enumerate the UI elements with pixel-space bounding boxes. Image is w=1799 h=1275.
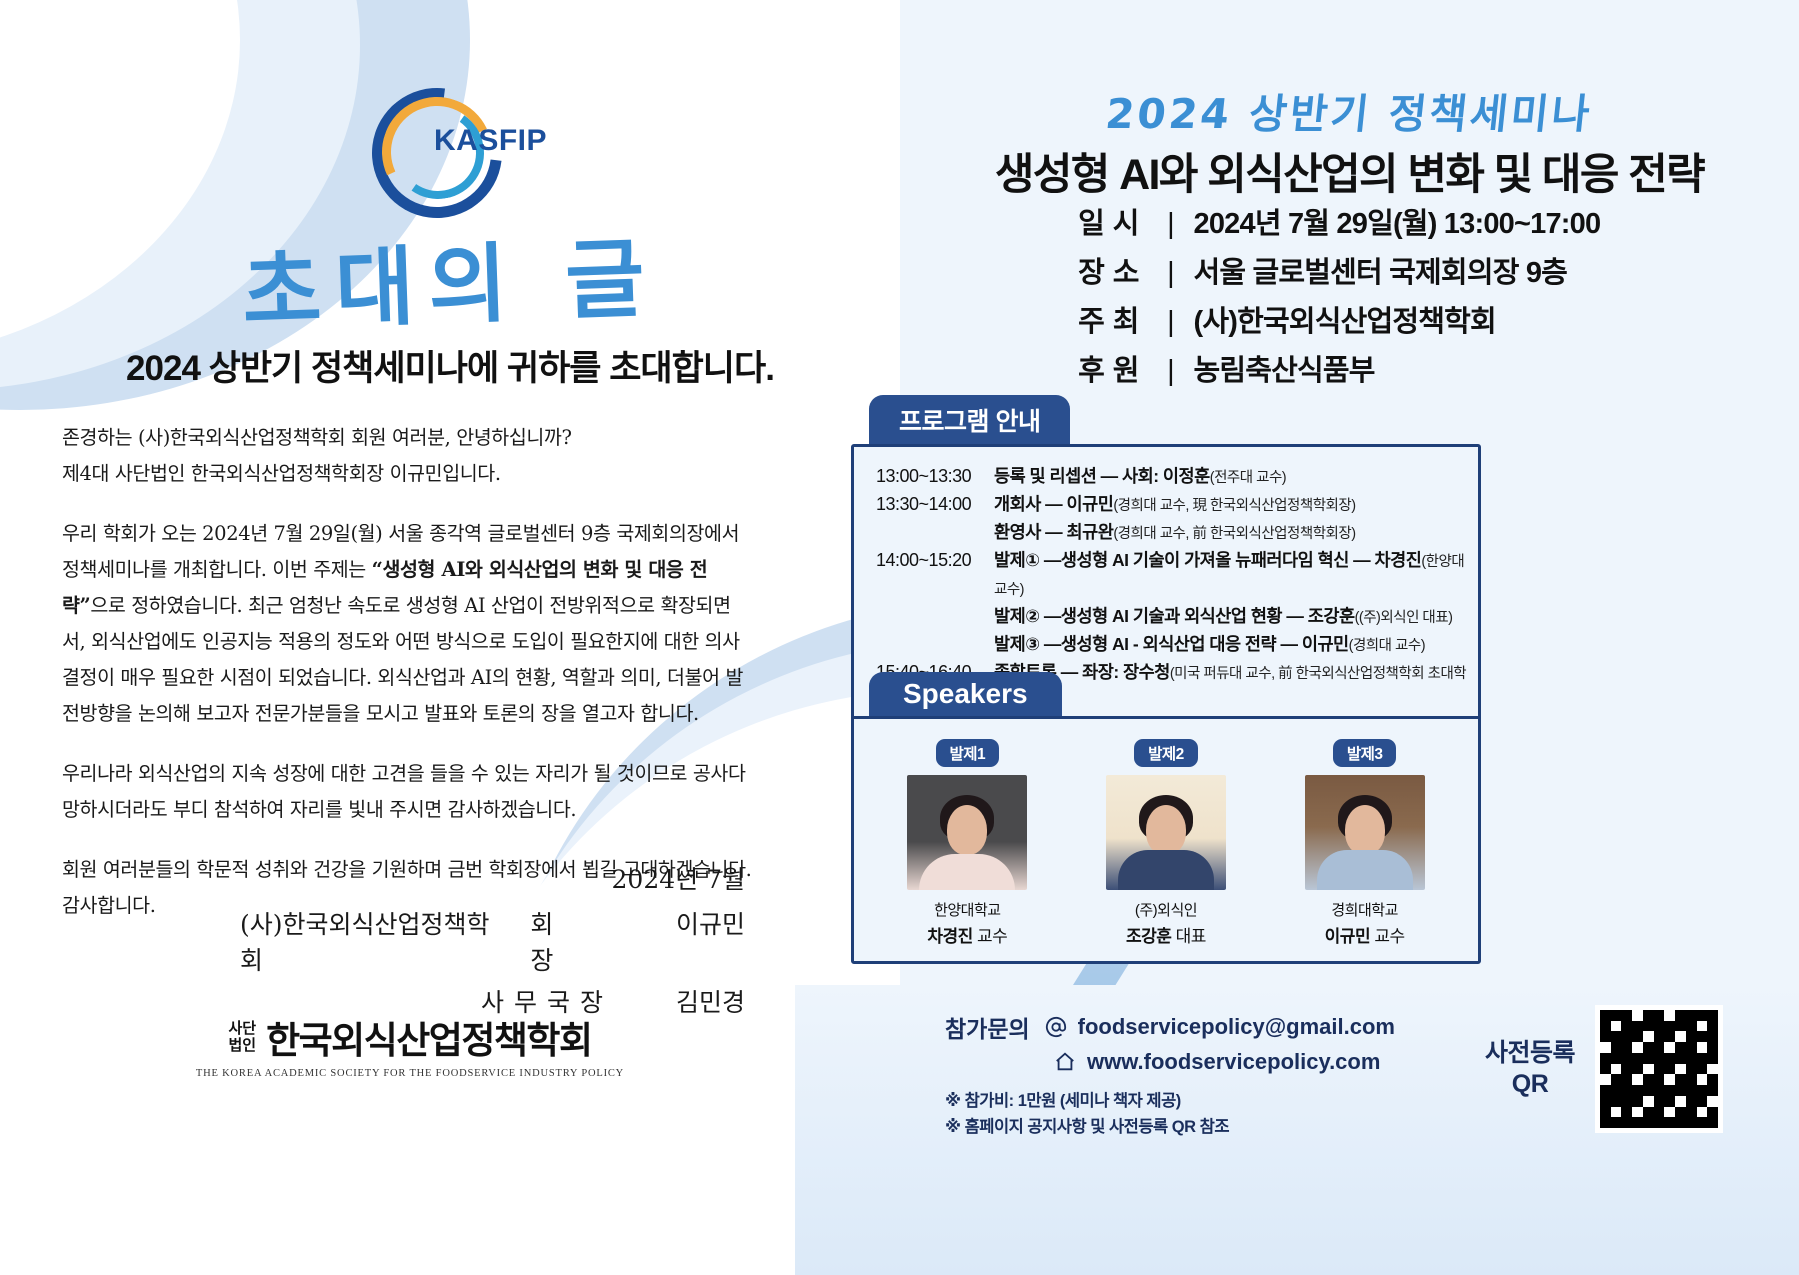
program-note-5: (경희대 교수) xyxy=(1349,638,1425,654)
meta-label-sponsor: 후원 xyxy=(1036,347,1148,389)
preregistration-qr[interactable]: 사전등록 QR xyxy=(1485,1005,1723,1133)
speakers-section: Speakers 발제1 한양대학교 차경진 교수 발제2 xyxy=(851,672,1481,964)
meta-row-date: 일시 | 2024년 7월 29일(월) 13:00~17:00 xyxy=(900,200,1799,242)
seminar-title: 생성형 AI와 외식산업의 변화 및 대응 전략 xyxy=(900,140,1799,202)
speaker-title-1: 교수 xyxy=(977,927,1007,946)
contact-footer: 참가문의 foodservicepolicy@gmail.com www.foo… xyxy=(900,985,1799,1275)
program-bold-1: 개회사 — 이규민 xyxy=(994,494,1113,514)
meta-separator-1: | xyxy=(1148,257,1194,290)
program-text-2: 환영사 — 최규완(경희대 교수, 前 한국외식산업정책학회장) xyxy=(994,519,1478,547)
program-time-3: 14:00~15:20 xyxy=(876,547,994,573)
invitation-paragraph-1: 존경하는 (사)한국외식산업정책학회 회원 여러분, 안녕하십니까?제4대 사단… xyxy=(62,420,752,492)
signature-organization: (사)한국외식산업정책학회 xyxy=(240,905,508,977)
qr-code-icon[interactable] xyxy=(1595,1005,1723,1133)
meta-value-date: 2024년 7월 29일(월) 13:00~17:00 xyxy=(1194,200,1664,242)
meta-value-host: (사)한국외식산업정책학회 xyxy=(1194,298,1664,340)
invitation-headline: 2024 상반기 정책세미나에 귀하를 초대합니다. xyxy=(60,340,840,391)
contact-notes: ※ 참가비: 1만원 (세미나 책자 제공) ※ 홈페이지 공지사항 및 사전등… xyxy=(945,1088,1465,1140)
contact-note-fee: ※ 참가비: 1만원 (세미나 책자 제공) xyxy=(945,1088,1465,1114)
at-sign-icon xyxy=(1044,1015,1068,1039)
speakers-box: 발제1 한양대학교 차경진 교수 발제2 xyxy=(851,716,1481,964)
program-text-1: 개회사 — 이규민(경희대 교수, 現 한국외식산업정책학회장) xyxy=(994,491,1478,519)
signature-name-0: 이규민 xyxy=(635,905,745,941)
speaker-name-1: 차경진 xyxy=(927,927,972,946)
program-text-3: 발제① —생성형 AI 기술이 가져올 뉴패러다임 혁신 — 차경진(한양대 교… xyxy=(994,547,1478,603)
program-row-0: 13:00~13:30 등록 및 리셉션 — 사회: 이정훈(전주대 교수) xyxy=(854,463,1478,491)
meta-separator-2: | xyxy=(1148,306,1194,339)
speaker-card-2: 발제2 (주)외식인 조강훈 대표 xyxy=(1086,739,1246,947)
speaker-title-2: 대표 xyxy=(1176,927,1206,946)
speaker-name-row-2: 조강훈 대표 xyxy=(1086,922,1246,947)
program-bold-4: 발제② —생성형 AI 기술과 외식산업 현황 — 조강훈 xyxy=(994,606,1355,626)
program-text-0: 등록 및 리셉션 — 사회: 이정훈(전주대 교수) xyxy=(994,463,1478,491)
speaker-affiliation-1: 한양대학교 xyxy=(887,899,1047,920)
invitation-paragraph-2: 우리 학회가 오는 2024년 7월 29일(월) 서울 종각역 글로벌센터 9… xyxy=(62,516,752,732)
program-note-4: ((주)외식인 대표) xyxy=(1355,610,1453,626)
signature-block: (사)한국외식산업정책학회 회 장 이규민 사무국장 김민경 xyxy=(240,905,745,1019)
speaker-photo-3 xyxy=(1305,775,1425,890)
contact-email[interactable]: foodservicepolicy@gmail.com xyxy=(1078,1014,1395,1040)
seminar-invitation-poster: KASFIP 초대의 글 2024 상반기 정책세미나에 귀하를 초대합니다. … xyxy=(0,0,1799,1275)
invitation-brush-title: 초대의 글 xyxy=(228,207,672,347)
meta-separator-3: | xyxy=(1148,355,1194,388)
program-bold-5: 발제③ —생성형 AI - 외식산업 대응 전략 — 이규민 xyxy=(994,634,1349,654)
speaker-title-3: 교수 xyxy=(1374,927,1404,946)
speaker-affiliation-2: (주)외식인 xyxy=(1086,899,1246,920)
seminar-kicker: 2024 상반기 정책세미나 xyxy=(897,80,1799,140)
speaker-card-3: 발제3 경희대학교 이규민 교수 xyxy=(1285,739,1445,947)
speakers-tab-label: Speakers xyxy=(869,672,1062,716)
speaker-badge-2: 발제2 xyxy=(1134,739,1198,767)
speaker-badge-3: 발제3 xyxy=(1333,739,1397,767)
footer-logo-prefix-line1: 사단 xyxy=(228,1020,256,1037)
program-row-5: 발제③ —생성형 AI - 외식산업 대응 전략 — 이규민(경희대 교수) xyxy=(854,631,1478,659)
meta-label-date: 일시 xyxy=(1036,200,1148,242)
program-note-0: (전주대 교수) xyxy=(1210,470,1286,486)
footer-logo-english: THE KOREA ACADEMIC SOCIETY FOR THE FOODS… xyxy=(0,1068,820,1079)
footer-logo-prefix: 사단 법인 xyxy=(228,1020,256,1054)
society-footer-logo: 사단 법인 한국외식산업정책학회 THE KOREA ACADEMIC SOCI… xyxy=(0,1010,820,1079)
logo-brand-text: KASFIP xyxy=(434,124,547,158)
speaker-face-1 xyxy=(947,805,987,855)
invitation-paragraph-3: 우리나라 외식산업의 지속 성장에 대한 고견을 들을 수 있는 자리가 될 것… xyxy=(62,756,752,828)
meta-row-host: 주최 | (사)한국외식산업정책학회 xyxy=(900,298,1799,340)
qr-label: 사전등록 QR xyxy=(1485,1038,1575,1100)
program-row-2: 환영사 — 최규완(경희대 교수, 前 한국외식산업정책학회장) xyxy=(854,519,1478,547)
contact-website-row[interactable]: www.foodservicepolicy.com xyxy=(945,1049,1465,1075)
speaker-body-1 xyxy=(919,854,1015,890)
contact-website[interactable]: www.foodservicepolicy.com xyxy=(1087,1049,1380,1075)
kasfip-logo: KASFIP xyxy=(372,88,562,198)
speaker-photo-2 xyxy=(1106,775,1226,890)
speaker-badge-1: 발제1 xyxy=(936,739,1000,767)
contact-note-qr: ※ 홈페이지 공지사항 및 사전등록 QR 참조 xyxy=(945,1114,1465,1140)
invitation-letter-panel: KASFIP 초대의 글 2024 상반기 정책세미나에 귀하를 초대합니다. … xyxy=(0,0,900,1275)
speaker-name-3: 이규민 xyxy=(1325,927,1370,946)
program-time-1: 13:30~14:00 xyxy=(876,491,994,517)
program-tab-label: 프로그램 안내 xyxy=(869,395,1070,444)
program-time-0: 13:00~13:30 xyxy=(876,463,994,489)
meta-row-venue: 장소 | 서울 글로벌센터 국제회의장 9층 xyxy=(900,249,1799,291)
qr-label-line2: QR xyxy=(1485,1069,1575,1100)
signature-date: 2024년 7월 xyxy=(0,860,745,896)
meta-row-sponsor: 후원 | 농림축산식품부 xyxy=(900,347,1799,389)
signature-row-1: (사)한국외식산업정책학회 회 장 이규민 xyxy=(240,905,745,977)
meta-value-venue: 서울 글로벌센터 국제회의장 9층 xyxy=(1194,249,1664,291)
program-note-2: (경희대 교수, 前 한국외식산업정책학회장) xyxy=(1113,526,1355,542)
program-bold-2: 환영사 — 최규완 xyxy=(994,522,1113,542)
speaker-affiliation-3: 경희대학교 xyxy=(1285,899,1445,920)
contact-lead-label: 참가문의 xyxy=(945,1010,1030,1044)
speaker-body-3 xyxy=(1317,850,1413,890)
program-note-1: (경희대 교수, 現 한국외식산업정책학회장) xyxy=(1113,498,1355,514)
speaker-photo-1 xyxy=(907,775,1027,890)
speaker-name-row-1: 차경진 교수 xyxy=(887,922,1047,947)
speaker-face-3 xyxy=(1345,805,1385,855)
contact-info: 참가문의 foodservicepolicy@gmail.com www.foo… xyxy=(945,1010,1465,1140)
program-text-5: 발제③ —생성형 AI - 외식산업 대응 전략 — 이규민(경희대 교수) xyxy=(994,631,1478,659)
speaker-face-2 xyxy=(1146,805,1186,855)
signature-role-0: 회 장 xyxy=(530,905,613,977)
footer-logo-prefix-line2: 법인 xyxy=(228,1037,256,1054)
footer-logo-name: 한국외식산업정책학회 xyxy=(266,1010,591,1064)
meta-separator-0: | xyxy=(1148,208,1194,241)
program-row-3: 14:00~15:20 발제① —생성형 AI 기술이 가져올 뉴패러다임 혁신… xyxy=(854,547,1478,603)
speaker-body-2 xyxy=(1118,850,1214,890)
qr-label-line1: 사전등록 xyxy=(1485,1038,1575,1069)
home-icon xyxy=(1053,1050,1077,1074)
program-text-4: 발제② —생성형 AI 기술과 외식산업 현황 — 조강훈((주)외식인 대표) xyxy=(994,603,1478,631)
speaker-card-1: 발제1 한양대학교 차경진 교수 xyxy=(887,739,1047,947)
contact-email-row[interactable]: 참가문의 foodservicepolicy@gmail.com xyxy=(945,1010,1465,1044)
meta-label-host: 주최 xyxy=(1036,298,1148,340)
seminar-meta-list: 일시 | 2024년 7월 29일(월) 13:00~17:00 장소 | 서울… xyxy=(900,200,1799,396)
speaker-name-2: 조강훈 xyxy=(1126,927,1171,946)
program-row-1: 13:30~14:00 개회사 — 이규민(경희대 교수, 現 한국외식산업정책… xyxy=(854,491,1478,519)
meta-value-sponsor: 농림축산식품부 xyxy=(1194,347,1664,389)
program-bold-0: 등록 및 리셉션 — 사회: 이정훈 xyxy=(994,466,1210,486)
program-row-4: 발제② —생성형 AI 기술과 외식산업 현황 — 조강훈((주)외식인 대표) xyxy=(854,603,1478,631)
meta-label-venue: 장소 xyxy=(1036,249,1148,291)
speaker-name-row-3: 이규민 교수 xyxy=(1285,922,1445,947)
program-bold-3: 발제① —생성형 AI 기술이 가져올 뉴패러다임 혁신 — 차경진 xyxy=(994,550,1421,570)
